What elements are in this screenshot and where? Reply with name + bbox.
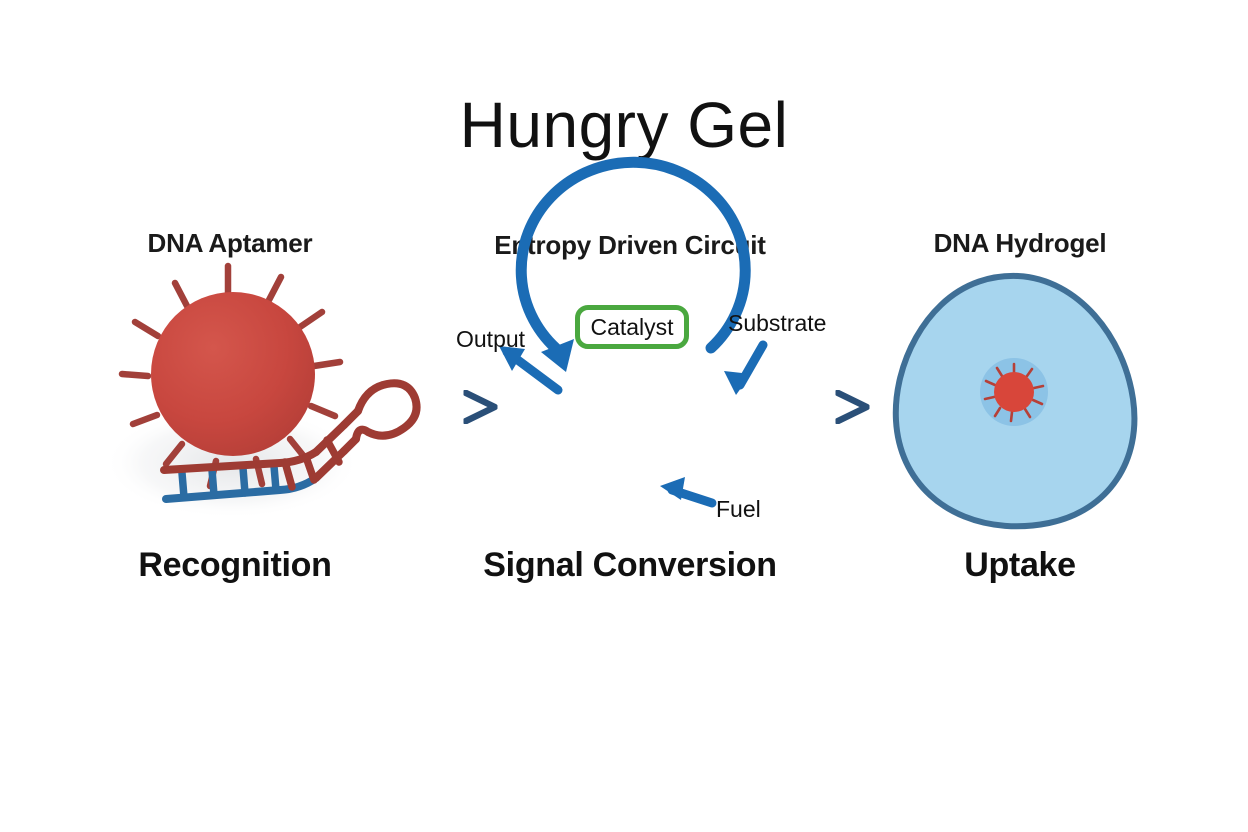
aptamer-complement-strand bbox=[166, 478, 316, 499]
panel-heading-dna-aptamer: DNA Aptamer bbox=[80, 228, 380, 259]
aptamer-complement-rungs bbox=[182, 466, 276, 497]
panel-caption-recognition: Recognition bbox=[75, 546, 395, 585]
diagram-canvas: Hungry Gel DNA Aptamer Entropy Driven Ci… bbox=[0, 0, 1248, 832]
cycle-label-catalyst: Catalyst bbox=[590, 314, 673, 341]
cycle-label-output: Output bbox=[456, 326, 525, 353]
hydrogel-vesicle bbox=[980, 358, 1048, 426]
recognition-graphic bbox=[104, 266, 417, 519]
fuel-arrow bbox=[660, 477, 712, 503]
captured-virus-spikes bbox=[985, 364, 1043, 421]
cycle-label-fuel: Fuel bbox=[716, 496, 761, 523]
cycle-arrowhead bbox=[541, 339, 574, 372]
page-title: Hungry Gel bbox=[0, 88, 1248, 162]
substrate-arrow bbox=[724, 345, 763, 395]
aptamer-red-strand bbox=[164, 411, 358, 478]
virus-spikes bbox=[122, 266, 340, 486]
hydrogel-body bbox=[896, 276, 1135, 526]
virus-body bbox=[151, 292, 315, 456]
panel-caption-uptake: Uptake bbox=[870, 546, 1170, 585]
cycle-label-substrate: Substrate bbox=[728, 310, 826, 337]
panel-heading-entropy-driven-circuit: Entropy Driven Circuit bbox=[470, 230, 790, 261]
catalyst-box: Catalyst bbox=[575, 305, 689, 349]
panel-heading-dna-hydrogel: DNA Hydrogel bbox=[875, 228, 1165, 259]
aptamer-hairpin-loop bbox=[356, 383, 417, 439]
panel-caption-signal-conversion: Signal Conversion bbox=[450, 546, 810, 585]
aptamer-red-rungs bbox=[285, 440, 339, 487]
captured-virus-body bbox=[994, 372, 1034, 412]
uptake-graphic bbox=[896, 276, 1135, 526]
aptamer-shadow bbox=[104, 407, 360, 519]
